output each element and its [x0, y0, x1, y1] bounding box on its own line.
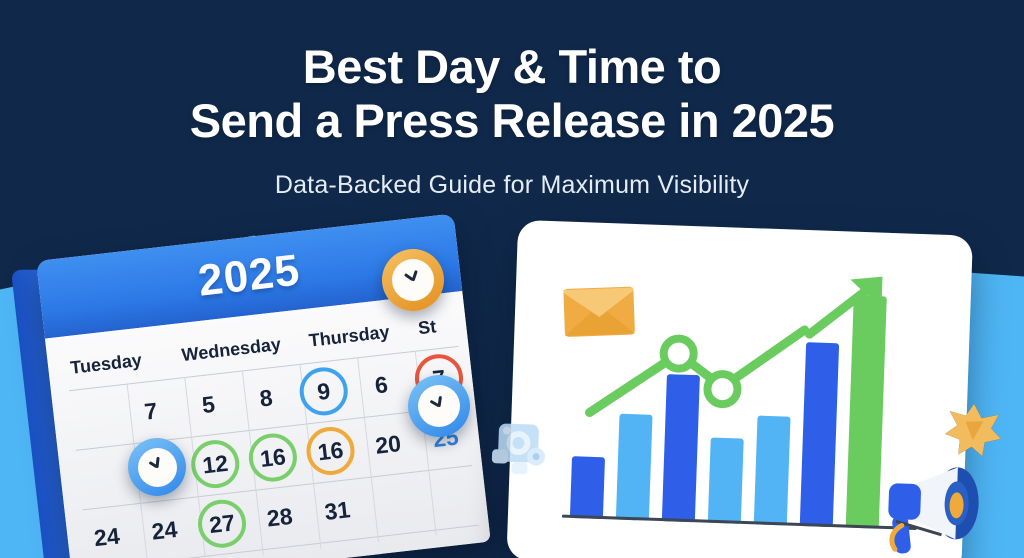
- chart-bar: [616, 414, 653, 521]
- calendar-day-cell: [68, 444, 132, 510]
- clock-icon: [128, 438, 186, 496]
- page-title-line-1: Best Day & Time to: [303, 40, 721, 93]
- chart-bar: [662, 374, 700, 522]
- calendar-day-number: 24: [93, 522, 121, 552]
- clock-icon: [382, 249, 444, 311]
- calendar-day-number: 28: [265, 502, 293, 532]
- calendar-day-cell: 12: [183, 431, 247, 497]
- chart-bar: [708, 437, 744, 523]
- calendar-day-cell: 20: [356, 411, 420, 477]
- calendar-day-cell: 16: [298, 418, 362, 484]
- calendar-day-cell: 8: [234, 365, 298, 431]
- calendar-day-cell: 6: [349, 352, 413, 418]
- calendar-day-cell: 7: [119, 378, 183, 444]
- calendar-day-number: 31: [323, 496, 351, 526]
- calendar-day-cell: 28: [247, 484, 311, 550]
- clock-face: [392, 259, 434, 301]
- clock-icon: [408, 375, 470, 437]
- calendar-day-number: 12: [201, 449, 229, 479]
- trend-marker: [663, 338, 694, 369]
- calendar-day-number: 27: [208, 509, 236, 539]
- calendar-day-number: 6: [373, 371, 389, 399]
- calendar-day-header-saturday-truncated: St: [417, 314, 459, 339]
- page-title: Best Day & Time to Send a Press Release …: [0, 0, 1024, 148]
- calendar-day-cell: [61, 385, 125, 451]
- hero-banner: Best Day & Time to Send a Press Release …: [0, 0, 1024, 558]
- heading-block: Best Day & Time to Send a Press Release …: [0, 0, 1024, 200]
- calendar-day-cell: 9: [292, 358, 356, 424]
- calendar-day-cell: 24: [75, 504, 139, 558]
- calendar-day-cell: 24: [132, 497, 196, 558]
- gear-icon: [487, 415, 555, 481]
- megaphone-icon: [879, 455, 1003, 558]
- calendar-day-cell: [420, 464, 484, 530]
- star-icon: [942, 401, 1004, 459]
- calendar-day-number: 5: [201, 390, 217, 418]
- clock-face: [418, 385, 460, 427]
- calendar-day-cell: 16: [241, 424, 305, 490]
- calendar-day-number: 7: [143, 397, 159, 425]
- calendar-day-cell: [363, 471, 427, 537]
- calendar-day-number: 20: [374, 430, 402, 460]
- calendar-day-cell: 5: [176, 371, 240, 437]
- page-title-line-2: Send a Press Release in 2025: [0, 94, 1024, 148]
- calendar-day-cell: 27: [190, 491, 254, 557]
- page-subtitle: Data-Backed Guide for Maximum Visibility: [0, 148, 1024, 200]
- chart-card: [506, 220, 988, 558]
- calendar-day-cell: 31: [305, 478, 369, 544]
- chart-bar: [570, 456, 605, 519]
- calendar-day-number: 8: [258, 384, 274, 412]
- calendar-day-number: 16: [259, 443, 287, 473]
- calendar-day-number: 24: [150, 515, 178, 545]
- envelope-icon: [562, 284, 636, 338]
- trend-marker: [707, 374, 738, 405]
- clock-face: [138, 448, 177, 487]
- chart-bar: [754, 416, 791, 526]
- chart-bar: [800, 342, 839, 527]
- calendar-day-number: 16: [316, 436, 344, 466]
